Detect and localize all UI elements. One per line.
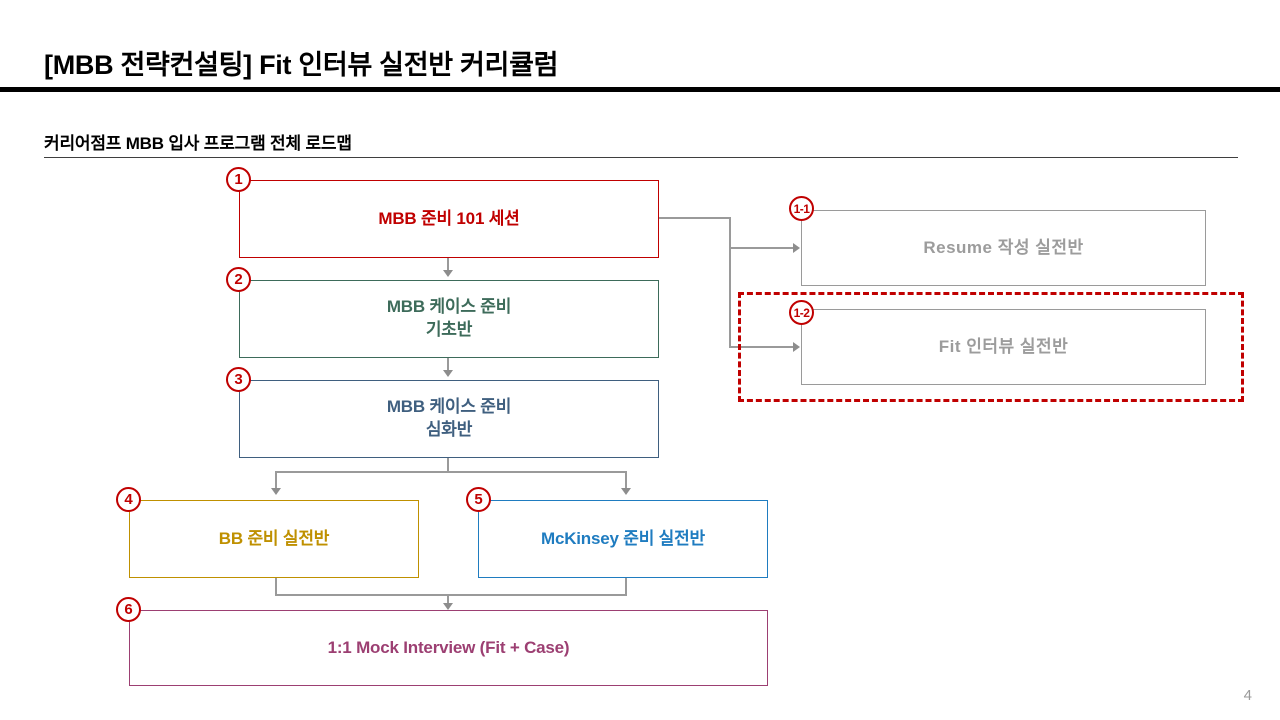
connector-branch-to-fit [729, 346, 794, 348]
title-divider [0, 87, 1280, 92]
arrow-step2-step3 [443, 370, 453, 377]
page-number: 4 [1244, 687, 1252, 704]
flow-box-bb-practical[interactable]: BB 준비 실전반 [129, 500, 419, 578]
flow-box-mbb-case-advanced[interactable]: MBB 케이스 준비 심화반 [239, 380, 659, 458]
flow-box-resume-practical[interactable]: Resume 작성 실전반 [801, 210, 1206, 286]
step-badge-text: 6 [124, 602, 132, 617]
connector-step3-split-stem [447, 458, 449, 472]
flow-box-label: MBB 케이스 준비 심화반 [387, 396, 511, 442]
step-badge-1: 1 [226, 167, 251, 192]
flow-box-label: BB 준비 실전반 [219, 528, 329, 551]
flow-box-mock-interview[interactable]: 1:1 Mock Interview (Fit + Case) [129, 610, 768, 686]
section-subtitle: 커리어점프 MBB 입사 프로그램 전체 로드맵 [44, 129, 352, 154]
connector-branch-vertical [729, 217, 731, 348]
step-badge-6: 6 [116, 597, 141, 622]
connector-step1-branch [659, 217, 730, 219]
step-badge-text: 1 [234, 172, 242, 187]
page-title: [MBB 전략컨설팅] Fit 인터뷰 실전반 커리큘럼 [44, 43, 558, 82]
arrow-to-resume-box [793, 243, 800, 253]
step-badge-text: 2 [234, 272, 242, 287]
flow-box-mckinsey-practical[interactable]: McKinsey 준비 실전반 [478, 500, 768, 578]
arrow-merge-step6 [443, 603, 453, 610]
connector-step3-split-bar [275, 471, 627, 473]
step-badge-4: 4 [116, 487, 141, 512]
flow-box-label: McKinsey 준비 실전반 [541, 528, 705, 551]
flow-box-mbb-case-basic[interactable]: MBB 케이스 준비 기초반 [239, 280, 659, 358]
flow-box-label: 1:1 Mock Interview (Fit + Case) [328, 637, 570, 660]
arrow-step3-step5 [621, 488, 631, 495]
step-badge-text: 1-1 [794, 203, 810, 215]
connector-split-to-step4 [275, 471, 277, 489]
step-badge-text: 1-2 [794, 307, 810, 319]
arrow-step3-step4 [271, 488, 281, 495]
flow-box-label: MBB 준비 101 세션 [378, 208, 519, 231]
arrow-to-fit-box [793, 342, 800, 352]
flow-box-label: MBB 케이스 준비 기초반 [387, 296, 511, 342]
step-badge-3: 3 [226, 367, 251, 392]
subtitle-divider [44, 157, 1238, 158]
connector-split-to-step5 [625, 471, 627, 489]
flow-box-label: Fit 인터뷰 실전반 [939, 336, 1069, 359]
step-badge-5: 5 [466, 487, 491, 512]
step-badge-text: 4 [124, 492, 132, 507]
flow-box-mbb-101-session[interactable]: MBB 준비 101 세션 [239, 180, 659, 258]
connector-step4-merge [275, 578, 277, 595]
connector-branch-to-resume [729, 247, 794, 249]
connector-step5-merge [625, 578, 627, 595]
flow-box-fit-interview-practical[interactable]: Fit 인터뷰 실전반 [801, 309, 1206, 385]
step-badge-2: 2 [226, 267, 251, 292]
flow-box-label: Resume 작성 실전반 [923, 237, 1083, 260]
step-badge-1-1: 1-1 [789, 196, 814, 221]
step-badge-text: 5 [474, 492, 482, 507]
arrow-step1-step2 [443, 270, 453, 277]
connector-merge-bar [275, 594, 627, 596]
step-badge-text: 3 [234, 372, 242, 387]
step-badge-1-2: 1-2 [789, 300, 814, 325]
